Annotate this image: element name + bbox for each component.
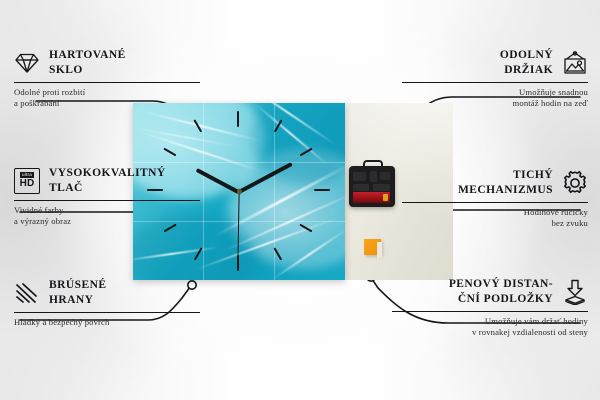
feature-title-line: MECHANIZMUS xyxy=(402,183,553,198)
divider xyxy=(14,200,200,201)
feature-title-line: ČNÍ PODLOŽKY xyxy=(392,292,553,307)
feature-subtitle-line: Odolné proti rozbití xyxy=(14,87,200,98)
foam-spacer-icon xyxy=(562,279,588,305)
ultra-hd-icon: ultra HD xyxy=(14,168,40,194)
feature-title-line: ODOLNÝ xyxy=(402,48,553,63)
feature-durable-hanger: ODOLNÝ DRŽIAK Umožňuje snadnou montáž ho… xyxy=(402,48,588,109)
product-infographic: HARTOVANÉ SKLO Odolné proti rozbití a po… xyxy=(0,0,600,400)
wall-hanger-icon xyxy=(562,50,588,76)
feature-subtitle-line: v rovnakej vzdialenosti od steny xyxy=(392,327,588,338)
diamond-icon xyxy=(14,50,40,76)
feature-subtitle-line: Umožňuje vám držať hodiny xyxy=(392,316,588,327)
feature-subtitle-line: montáž hodin na zeď xyxy=(402,98,588,109)
feature-hardened-glass: HARTOVANÉ SKLO Odolné proti rozbití a po… xyxy=(14,48,200,109)
clock-tick xyxy=(237,111,239,127)
feature-title-line: TLAČ xyxy=(49,181,200,196)
mechanism-hook xyxy=(363,160,383,171)
feature-foam-spacers: PENOVÝ DISTAN- ČNÍ PODLOŽKY Umožňuje vám… xyxy=(392,277,588,338)
feature-title-line: BRÚSENÉ xyxy=(49,278,200,293)
divider xyxy=(392,311,588,312)
clock-tick xyxy=(314,189,330,191)
gear-icon xyxy=(562,170,588,196)
feature-title-line: HARTOVANÉ xyxy=(49,48,200,63)
feature-polished-edges: BRÚSENÉ HRANY Hladký a bezpečný povrch xyxy=(14,278,200,328)
feature-subtitle-line: Vividné farby xyxy=(14,205,200,216)
feature-title-line: VYSOKOKVALITNÝ xyxy=(49,166,200,181)
mechanism-battery xyxy=(353,192,390,203)
divider xyxy=(402,202,588,203)
divider xyxy=(14,82,200,83)
feature-high-quality-print: ultra HD VYSOKOKVALITNÝ TLAČ Vividné far… xyxy=(14,166,200,227)
feature-title-line: DRŽIAK xyxy=(402,63,553,78)
feature-subtitle-line: Hodinové ručičky xyxy=(402,207,588,218)
foam-spacer-pad xyxy=(364,239,381,255)
divider xyxy=(402,82,588,83)
clock-mechanism xyxy=(349,166,395,207)
feature-title-line: HRANY xyxy=(49,293,200,308)
feature-title-line: PENOVÝ DISTAN- xyxy=(392,277,553,292)
feature-subtitle-line: a výrazný obraz xyxy=(14,216,200,227)
feature-silent-mechanism: TICHÝ MECHANIZMUS Hodinové ručičky bez z… xyxy=(402,168,588,229)
ultra-hd-icon-large-text: HD xyxy=(20,179,35,189)
feature-title-line: SKLO xyxy=(49,63,200,78)
feature-subtitle-line: Umožňuje snadnou xyxy=(402,87,588,98)
feature-subtitle-line: bez zvuku xyxy=(402,218,588,229)
feature-subtitle-line: a poškrábání xyxy=(14,98,200,109)
ultra-hd-icon-small-text: ultra xyxy=(20,172,34,178)
feature-title-line: TICHÝ xyxy=(402,168,553,183)
clock-center-hub xyxy=(237,189,242,194)
feature-subtitle-line: Hladký a bezpečný povrch xyxy=(14,317,200,328)
brushed-edges-icon xyxy=(14,280,40,306)
divider xyxy=(14,312,200,313)
